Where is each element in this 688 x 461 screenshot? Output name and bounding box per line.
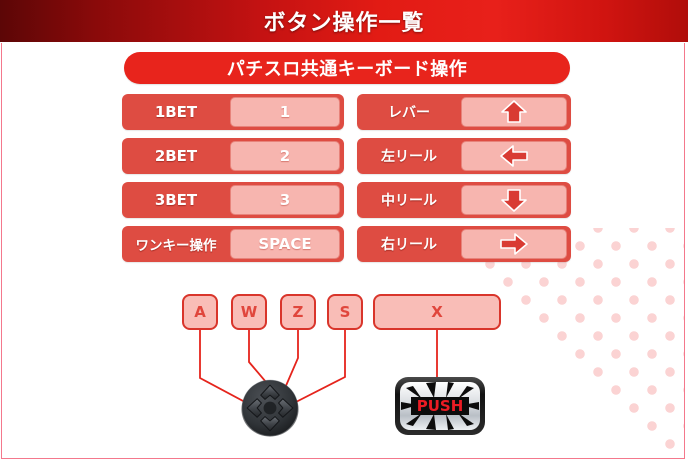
key-chip-label: A bbox=[194, 303, 206, 321]
button-guide-screen: ボタン操作一覧 パチスロ共通キーボード操作 1BET 1 2BET 2 3BET… bbox=[0, 0, 688, 461]
key-chip-s[interactable]: S bbox=[327, 294, 363, 330]
joystick-dpad[interactable] bbox=[228, 378, 312, 438]
key-chip-label: X bbox=[431, 303, 443, 321]
push-button-label: PUSH bbox=[417, 397, 464, 415]
key-chip-label: S bbox=[340, 303, 351, 321]
key-chip-label: Z bbox=[293, 303, 304, 321]
key-chip-label: W bbox=[241, 303, 258, 321]
key-chip-a[interactable]: A bbox=[182, 294, 218, 330]
key-chip-x[interactable]: X bbox=[373, 294, 501, 330]
push-button[interactable]: PUSH bbox=[392, 372, 488, 438]
key-chips: A W Z S X bbox=[0, 0, 688, 461]
key-chip-z[interactable]: Z bbox=[280, 294, 316, 330]
key-chip-w[interactable]: W bbox=[231, 294, 267, 330]
